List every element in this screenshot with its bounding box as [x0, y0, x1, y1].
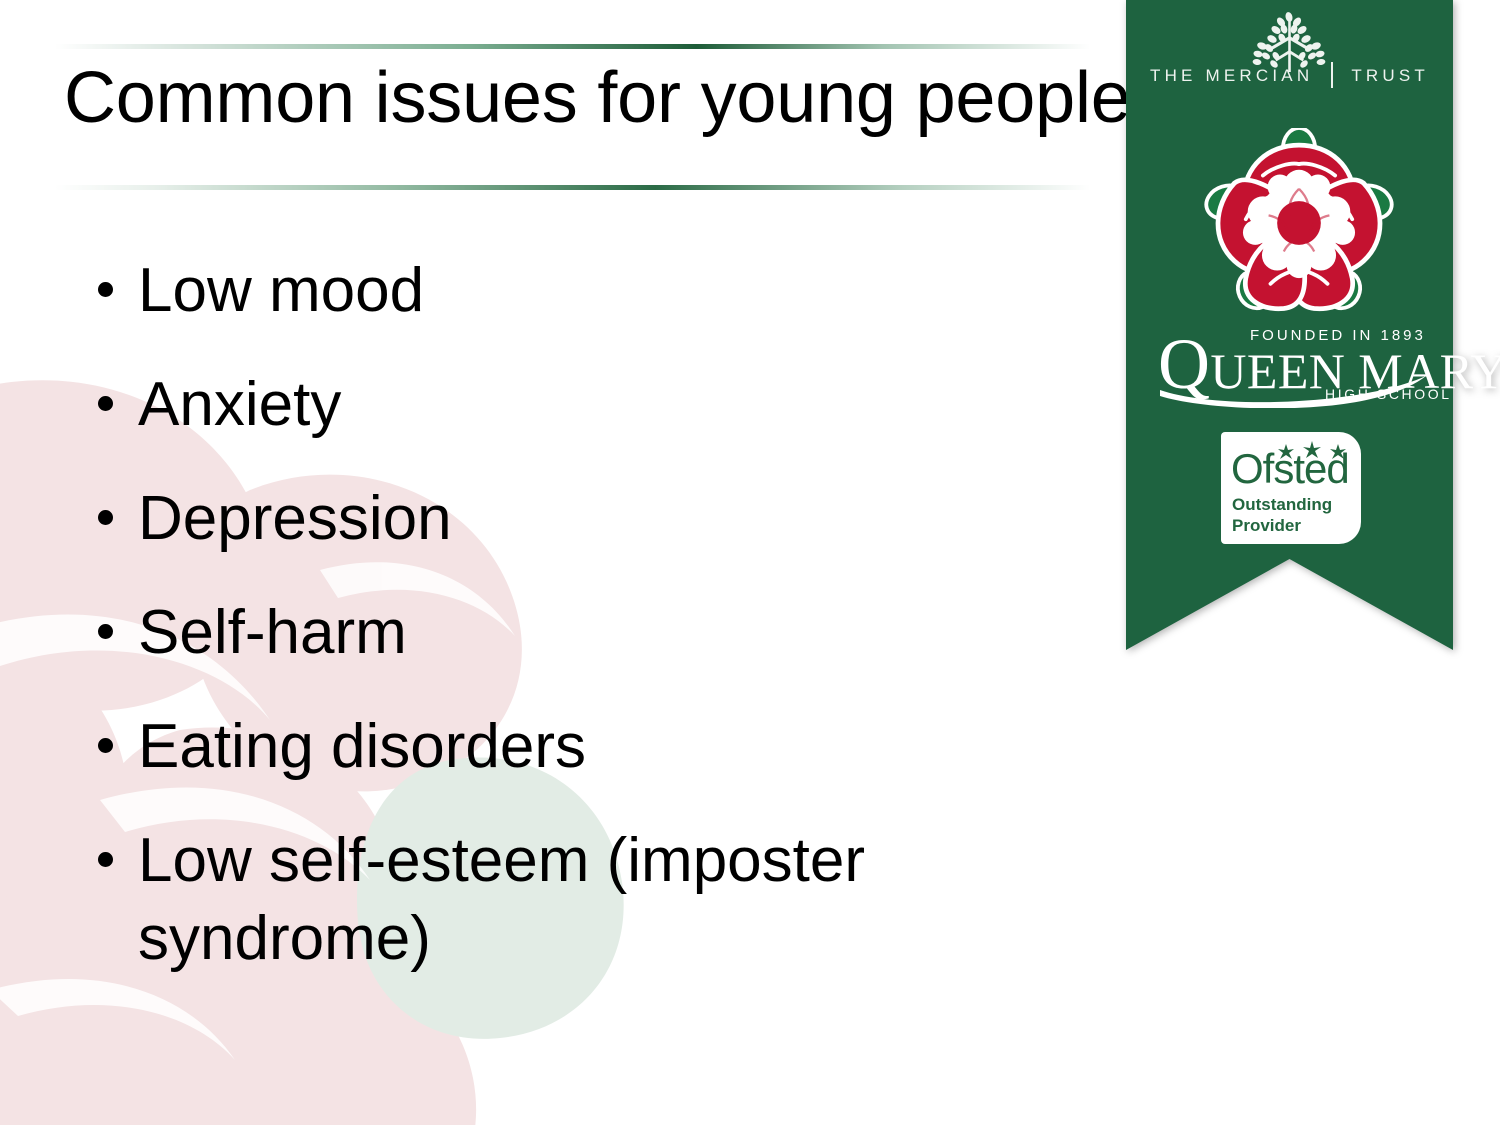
mercian-word-left: THE MERCIAN	[1150, 66, 1313, 85]
branding-banner: THE MERCIANTRUST	[1126, 0, 1453, 650]
ofsted-tagline-line2: Provider	[1232, 516, 1301, 535]
mercian-trust-wordmark: THE MERCIANTRUST	[1126, 62, 1453, 88]
queen-marys-logo: FOUNDED IN 1893 QUEEN MARY’S HIGH SCHOOL	[1154, 322, 1434, 408]
mercian-word-right: TRUST	[1351, 66, 1429, 85]
presentation-slide: Common issues for young people Low mood …	[0, 0, 1500, 1125]
title-block: Common issues for young people	[0, 0, 1110, 200]
bullet-point-icon	[98, 624, 113, 639]
list-item: Self-harm	[92, 594, 992, 672]
ofsted-tagline: OutstandingProvider	[1232, 494, 1332, 536]
list-item: Low mood	[92, 252, 992, 330]
list-item-label: Low mood	[138, 256, 424, 325]
bullet-list: Low mood Anxiety Depression Self-harm Ea…	[92, 252, 992, 1014]
list-item: Eating disorders	[92, 708, 992, 786]
list-item-label: Depression	[138, 484, 452, 553]
ofsted-tagline-line1: Outstanding	[1232, 495, 1332, 514]
bullet-point-icon	[98, 510, 113, 525]
bullet-point-icon	[98, 738, 113, 753]
list-item-label: Eating disorders	[138, 712, 586, 781]
list-item-label: Self-harm	[138, 598, 407, 667]
bullet-point-icon	[98, 396, 113, 411]
bullet-point-icon	[98, 282, 113, 297]
tree-icon	[1126, 6, 1453, 116]
list-item-label: Anxiety	[138, 370, 341, 439]
ofsted-name: Ofsted	[1231, 448, 1349, 490]
page-title: Common issues for young people	[64, 56, 1104, 140]
list-item: Depression	[92, 480, 992, 558]
queen-marys-school: HIGH SCHOOL	[1325, 386, 1452, 402]
title-divider-top	[55, 44, 1090, 49]
bullet-point-icon	[98, 852, 113, 867]
ofsted-badge: Ofsted OutstandingProvider	[1221, 432, 1361, 544]
wordmark-divider	[1331, 62, 1333, 88]
title-divider-bottom	[55, 185, 1090, 190]
list-item: Low self-esteem (imposter syndrome)	[92, 822, 992, 978]
tudor-rose-icon	[1204, 128, 1394, 318]
list-item-label: Low self-esteem (imposter syndrome)	[138, 826, 865, 973]
list-item: Anxiety	[92, 366, 992, 444]
